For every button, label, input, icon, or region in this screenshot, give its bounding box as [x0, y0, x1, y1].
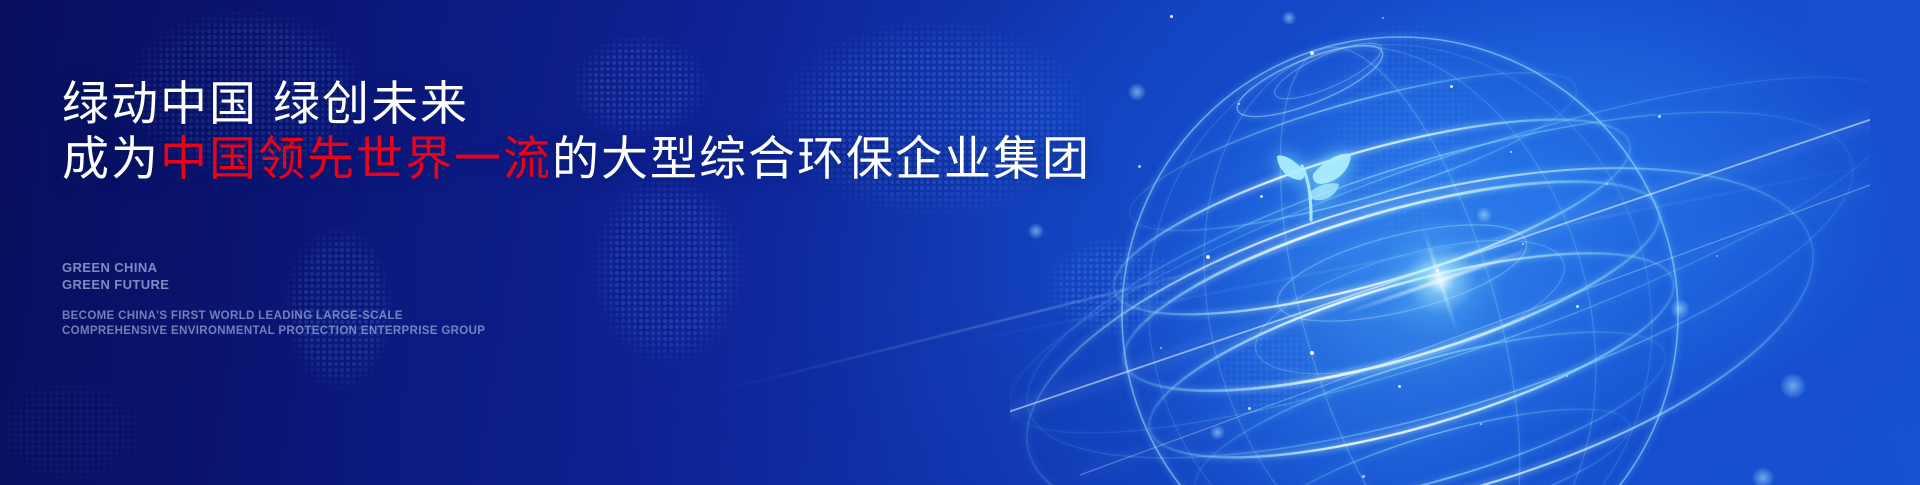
headline-line-2: 成为中国领先世界一流的大型综合环保企业集团: [62, 133, 1091, 186]
subtitle-line-1: BECOME CHINA'S FIRST WORLD LEADING LARGE…: [62, 309, 485, 324]
eyebrow-text: GREEN CHINA GREEN FUTURE: [62, 259, 169, 293]
sprout-leaf-icon: [1275, 130, 1353, 222]
light-streak-2: [949, 157, 1911, 346]
globe-glow: [1120, 35, 1680, 485]
headline-line-1-text: 绿动中国 绿创未来: [62, 77, 469, 130]
eyebrow-line-1: GREEN CHINA: [62, 259, 169, 276]
particle-field: [1010, 0, 1870, 485]
headline-line-2-suffix: 的大型综合环保企业集团: [552, 132, 1091, 185]
headline-line-2-highlight: 中国领先世界一流: [160, 132, 552, 185]
headline-line-1: 绿动中国 绿创未来: [62, 78, 469, 131]
headline-line-2-prefix: 成为: [62, 132, 160, 185]
light-burst: [1365, 205, 1515, 355]
subtitle-english: BECOME CHINA'S FIRST WORLD LEADING LARGE…: [62, 309, 485, 340]
subtitle-line-2: COMPREHENSIVE ENVIRONMENTAL PROTECTION E…: [62, 324, 485, 339]
map-region-oceania: [1180, 300, 1360, 450]
hero-banner: 绿动中国 绿创未来 成为中国领先世界一流的大型综合环保企业集团 GREEN CH…: [0, 0, 1920, 485]
eyebrow-line-2: GREEN FUTURE: [62, 276, 169, 293]
globe-wireframe-svg: [1010, 0, 1870, 485]
globe-graphic: [1010, 0, 1870, 485]
headline-block: 绿动中国 绿创未来 成为中国领先世界一流的大型综合环保企业集团 GREEN CH…: [62, 0, 1062, 485]
map-region-pacific: [1300, 0, 1560, 330]
